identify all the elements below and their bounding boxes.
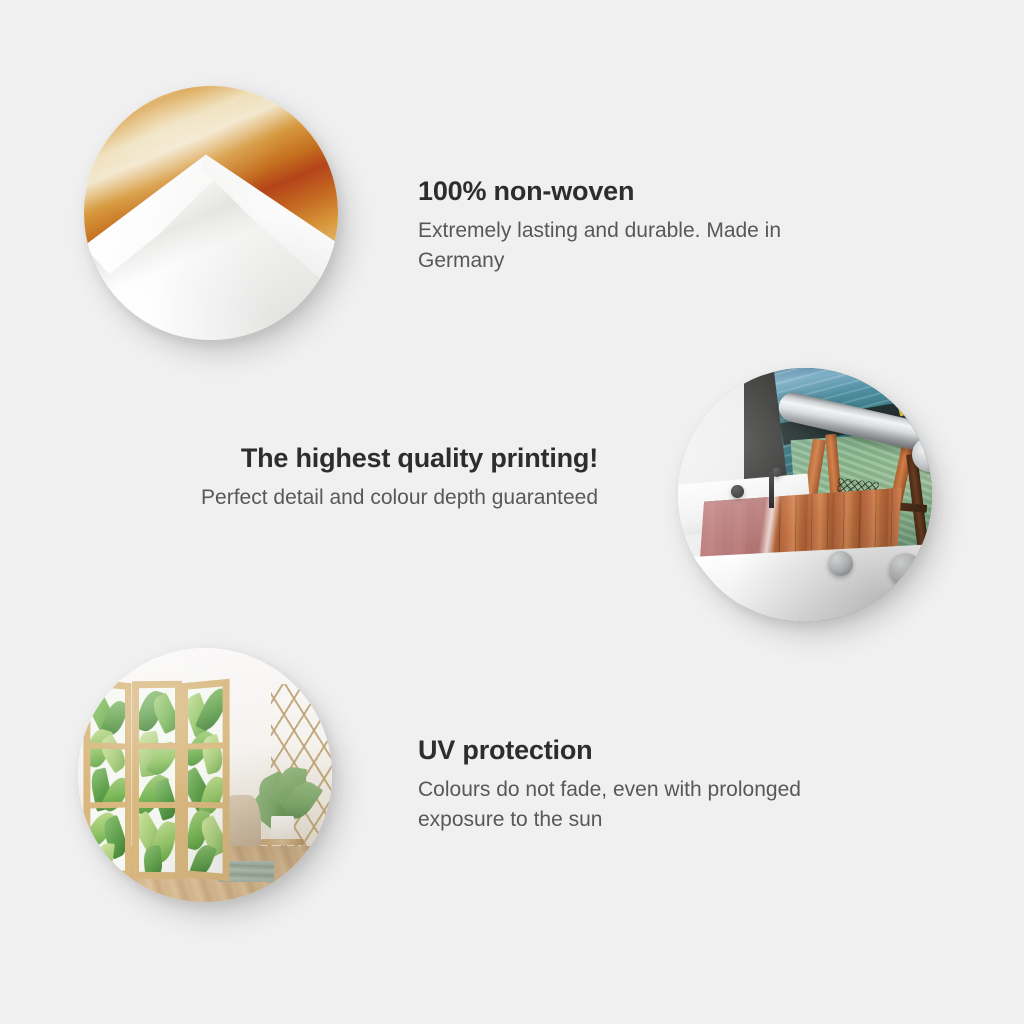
feature-copy-uv-protection: UV protection Colours do not fade, even … [418, 735, 818, 835]
peel-sheen-overlay [84, 86, 338, 340]
printing-press-scene [678, 368, 932, 622]
room-lighting-overlay [78, 648, 332, 902]
feature-heading-non-woven: 100% non-woven [418, 176, 848, 206]
tropical-leaf-room-divider-image [78, 648, 332, 902]
press-shading-overlay [678, 368, 932, 622]
feature-body-non-woven: Extremely lasting and durable. Made in G… [418, 216, 848, 276]
room-scene [78, 648, 332, 902]
peeling-wallpaper-corner-image [84, 86, 338, 340]
feature-infographic: 100% non-woven Extremely lasting and dur… [0, 0, 1024, 1024]
large-format-printing-machine-image [678, 368, 932, 622]
peel-scene [84, 86, 338, 340]
feature-heading-uv-protection: UV protection [418, 735, 818, 765]
feature-body-printing-quality: Perfect detail and colour depth guarante… [168, 483, 598, 513]
feature-heading-printing-quality: The highest quality printing! [168, 443, 598, 473]
feature-copy-printing-quality: The highest quality printing! Perfect de… [168, 443, 598, 513]
feature-copy-non-woven: 100% non-woven Extremely lasting and dur… [418, 176, 848, 276]
feature-body-uv-protection: Colours do not fade, even with prolonged… [418, 775, 818, 835]
